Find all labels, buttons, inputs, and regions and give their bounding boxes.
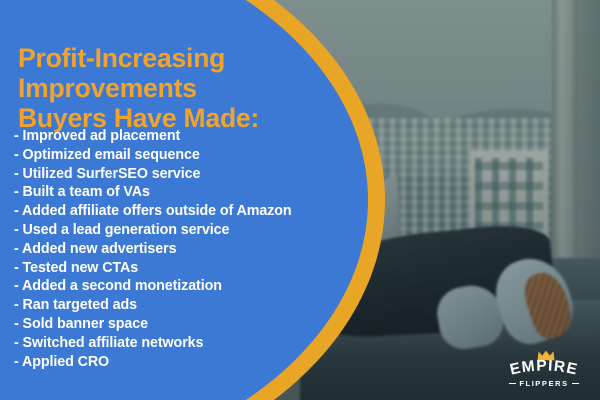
list-item: - Tested new CTAs — [14, 259, 364, 278]
crown-icon — [537, 348, 555, 359]
list-item: - Utilized SurferSEO service — [14, 165, 364, 184]
logo-dash-right — [572, 383, 579, 384]
promo-graphic: Profit-Increasing Improvements Buyers Ha… — [0, 0, 600, 400]
empire-flippers-logo: EMPIRE FLIPPERS — [497, 348, 591, 392]
list-item: - Improved ad placement — [14, 127, 364, 146]
list-item: - Optimized email sequence — [14, 146, 364, 165]
page-title-line-2: Improvements — [18, 73, 348, 103]
list-item: - Added affiliate offers outside of Amaz… — [14, 202, 364, 221]
list-item: - Built a team of VAs — [14, 183, 364, 202]
list-item: - Sold banner space — [14, 315, 364, 334]
list-item: - Used a lead generation service — [14, 221, 364, 240]
page-title-line-1: Profit-Increasing — [18, 43, 348, 73]
list-item: - Switched affiliate networks — [14, 334, 364, 353]
logo-flippers-text: FLIPPERS — [519, 379, 568, 388]
content-area: Profit-Increasing Improvements Buyers Ha… — [0, 0, 370, 400]
page-title: Profit-Increasing Improvements Buyers Ha… — [18, 43, 348, 133]
list-item: - Added a second monetization — [14, 277, 364, 296]
logo-wordmark-primary: EMPIRE — [497, 359, 591, 381]
list-item: - Added new advertisers — [14, 240, 364, 259]
list-item: - Ran targeted ads — [14, 296, 364, 315]
logo-wordmark-secondary: FLIPPERS — [497, 379, 591, 388]
improvements-list: - Improved ad placement - Optimized emai… — [14, 127, 364, 371]
svg-text:EMPIRE: EMPIRE — [508, 359, 579, 379]
list-item: - Applied CRO — [14, 353, 364, 372]
logo-dash-left — [509, 383, 516, 384]
